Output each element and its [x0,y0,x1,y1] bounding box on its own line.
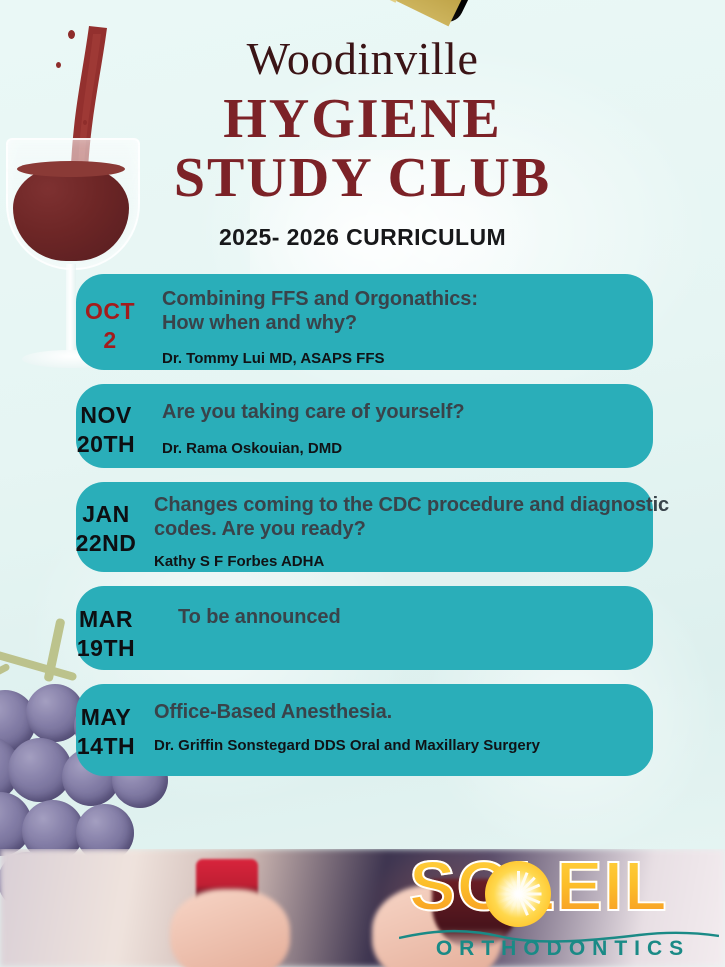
schedule-list: OCT 2 Combining FFS and Orgonathics: How… [0,274,725,790]
title-line-2: STUDY CLUB [0,149,725,208]
session-month: MAY [64,703,148,732]
session-month: NOV [64,401,148,430]
session-speaker: Dr. Griffin Sonstegard DDS Oral and Maxi… [154,737,574,755]
session-date-jan: JAN 22ND [64,500,148,559]
session-day: 22ND [64,529,148,558]
session-title: Changes coming to the CDC procedure and … [154,494,684,541]
session-date-nov: NOV 20TH [64,401,148,460]
soleil-orthodontics-logo: SOLEIL ORTHODONTICS [399,851,719,963]
session-title: Office-Based Anesthesia. [154,701,647,725]
session-card-may[interactable]: MAY 14TH Office-Based Anesthesia. Dr. Gr… [76,684,653,776]
session-title-line-1: Combining FFS and Orgonathics: [162,288,647,312]
session-date-may: MAY 14TH [64,703,148,762]
script-title: Woodinville [0,36,725,82]
session-title-line-2: How when and why? [162,312,647,336]
session-date-mar: MAR 19TH [64,605,148,664]
poster-root: Woodinville HYGIENE STUDY CLUB 2025- 202… [0,0,725,967]
session-month: MAR [64,605,148,634]
session-title: Combining FFS and Orgonathics: How when … [162,288,647,335]
logo-subtitle: ORTHODONTICS [407,937,719,961]
session-month: OCT [68,297,152,326]
title-line-1: HYGIENE [223,88,502,150]
page-title: HYGIENE STUDY CLUB [0,90,725,208]
session-month: JAN [64,500,148,529]
session-card-nov[interactable]: NOV 20TH Are you taking care of yourself… [76,384,653,468]
session-title: To be announced [178,606,647,630]
session-day: 20TH [64,430,148,459]
session-day: 2 [68,326,152,355]
session-speaker: Dr. Rama Oskouian, DMD [162,440,647,458]
curriculum-subtitle: 2025- 2026 CURRICULUM [0,224,725,251]
session-title: Are you taking care of yourself? [162,401,647,425]
session-day: 19TH [64,634,148,663]
session-speaker: Dr. Tommy Lui MD, ASAPS FFS [162,350,647,368]
session-card-jan[interactable]: JAN 22ND Changes coming to the CDC proce… [76,482,653,572]
session-day: 14TH [64,732,148,761]
session-card-mar[interactable]: MAR 19TH To be announced [76,586,653,670]
session-date-oct: OCT 2 [68,297,152,356]
session-speaker: Kathy S F Forbes ADHA [154,553,647,571]
sunburst-icon [485,861,551,927]
session-card-oct[interactable]: OCT 2 Combining FFS and Orgonathics: How… [76,274,653,370]
poster-header: Woodinville HYGIENE STUDY CLUB 2025- 202… [0,36,725,251]
